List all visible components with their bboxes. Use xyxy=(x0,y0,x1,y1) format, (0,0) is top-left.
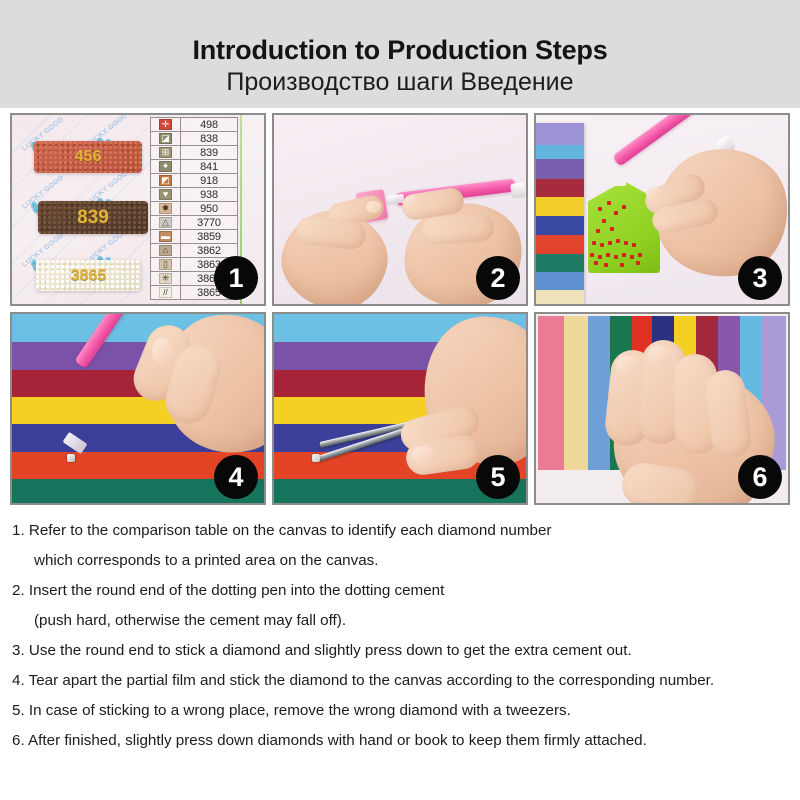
step-badge-3: 3 xyxy=(738,256,782,300)
instruction-step-2: 2. Insert the round end of the dotting p… xyxy=(12,576,792,606)
dmc-number: 3862 xyxy=(181,244,237,257)
symbol-cell: ✦ xyxy=(151,160,181,173)
symbol-cell: // xyxy=(151,286,181,299)
diamond-on-tip xyxy=(67,454,75,462)
instruction-step-1: 1. Refer to the comparison table on the … xyxy=(12,516,792,546)
table-row: △ 3770 xyxy=(151,216,237,230)
instruction-step-4: 4. Tear apart the partial film and stick… xyxy=(12,666,792,696)
table-row: ⊞ 839 xyxy=(151,146,237,160)
page-title: Introduction to Production Steps xyxy=(192,36,607,64)
table-row: ✦ 841 xyxy=(151,160,237,174)
instruction-step-6: 6. After finished, slightly press down d… xyxy=(12,726,792,756)
instruction-step-5: 5. In case of sticking to a wrong place,… xyxy=(12,696,792,726)
index-nail xyxy=(152,338,172,364)
dmc-number: 838 xyxy=(181,132,237,145)
index-nail xyxy=(616,356,638,374)
index-nail xyxy=(646,187,661,200)
header: Introduction to Production Steps Произво… xyxy=(0,0,800,108)
instruction-list: 1. Refer to the comparison table on the … xyxy=(12,516,792,756)
symbol-swatch-icon: ⌂ xyxy=(159,245,172,256)
instruction-step-3: 3. Use the round end to stick a diamond … xyxy=(12,636,792,666)
instruction-step-2-cont: (push hard, otherwise the cement may fal… xyxy=(12,606,792,636)
step-panel-5: 5 xyxy=(272,312,528,505)
dmc-number: 498 xyxy=(181,118,237,131)
table-row: ✹ 950 xyxy=(151,202,237,216)
diamond-in-tweezers xyxy=(312,454,320,462)
dmc-number: 3859 xyxy=(181,230,237,243)
symbol-swatch-icon: ✦ xyxy=(159,161,172,172)
thumb-nail xyxy=(412,446,434,464)
middle-nail xyxy=(648,346,670,364)
step-badge-5: 5 xyxy=(476,455,520,499)
symbol-swatch-icon: ✛ xyxy=(159,119,172,130)
symbol-swatch-icon: ⊞ xyxy=(159,147,172,158)
symbol-cell: ✹ xyxy=(151,202,181,215)
symbol-swatch-icon: △ xyxy=(159,217,172,228)
symbol-cell: ▬ xyxy=(151,230,181,243)
symbol-swatch-icon: ◪ xyxy=(159,133,172,144)
step-panel-1: LUCKY GOOD LUCKY GOOD LUCKY GOOD LUCKY G… xyxy=(10,113,266,306)
bag-label-1: 456 xyxy=(75,148,102,166)
step-badge-2: 2 xyxy=(476,256,520,300)
step-badge-1: 1 xyxy=(214,256,258,300)
dmc-number: 918 xyxy=(181,174,237,187)
symbol-cell: ⌂ xyxy=(151,244,181,257)
table-row: ♥ 938 xyxy=(151,188,237,202)
bag-label-3: 3865 xyxy=(71,267,107,285)
diamond-bag-3: 3865 xyxy=(36,260,141,291)
instruction-step-1-cont: which corresponds to a printed area on t… xyxy=(12,546,792,576)
step-badge-4: 4 xyxy=(214,455,258,499)
symbol-swatch-icon: ▬ xyxy=(159,231,172,242)
symbol-cell: ◪ xyxy=(151,132,181,145)
dmc-number: 841 xyxy=(181,160,237,173)
step-badge-6: 6 xyxy=(738,455,782,499)
symbol-swatch-icon: ▯ xyxy=(159,259,172,270)
step-panel-4: 4 xyxy=(10,312,266,505)
symbol-swatch-icon: ♥ xyxy=(159,189,172,200)
step-panel-6: 6 xyxy=(534,312,790,505)
dmc-number: 938 xyxy=(181,188,237,201)
symbol-cell: ♥ xyxy=(151,188,181,201)
step-panel-2: 2 xyxy=(272,113,528,306)
table-row: ▬ 3859 xyxy=(151,230,237,244)
dmc-number: 3770 xyxy=(181,216,237,229)
pen-cap-icon xyxy=(510,182,526,199)
symbol-swatch-icon: ✳ xyxy=(159,273,172,284)
dmc-number: 950 xyxy=(181,202,237,215)
symbol-cell: ◩ xyxy=(151,174,181,187)
tray-notch xyxy=(614,179,626,186)
symbol-swatch-icon: ✹ xyxy=(159,203,172,214)
step-panel-grid: LUCKY GOOD LUCKY GOOD LUCKY GOOD LUCKY G… xyxy=(10,113,790,505)
symbol-cell: ✛ xyxy=(151,118,181,131)
diamond-bag-2: 839 xyxy=(38,201,148,234)
table-row: ⌂ 3862 xyxy=(151,244,237,258)
symbol-cell: △ xyxy=(151,216,181,229)
symbol-swatch-icon: // xyxy=(159,287,172,298)
diamond-bag-1: 456 xyxy=(34,141,142,173)
left-thumb-nail xyxy=(366,201,381,213)
step-panel-3: 3 xyxy=(534,113,790,306)
right-index-nail xyxy=(404,195,419,208)
table-row: ◩ 918 xyxy=(151,174,237,188)
symbol-cell: ⊞ xyxy=(151,146,181,159)
table-row: ✛ 498 xyxy=(151,118,237,132)
symbol-cell: ✳ xyxy=(151,272,181,285)
right-middle-finger xyxy=(421,213,495,246)
production-steps-infographic: Introduction to Production Steps Произво… xyxy=(0,0,800,800)
symbol-swatch-icon: ◩ xyxy=(159,175,172,186)
dmc-number: 839 xyxy=(181,146,237,159)
page-subtitle: Производство шаги Введение xyxy=(226,68,573,96)
bag-label-2: 839 xyxy=(77,207,109,229)
table-row: ◪ 838 xyxy=(151,132,237,146)
striped-canvas-strip xyxy=(536,123,584,304)
symbol-cell: ▯ xyxy=(151,258,181,271)
